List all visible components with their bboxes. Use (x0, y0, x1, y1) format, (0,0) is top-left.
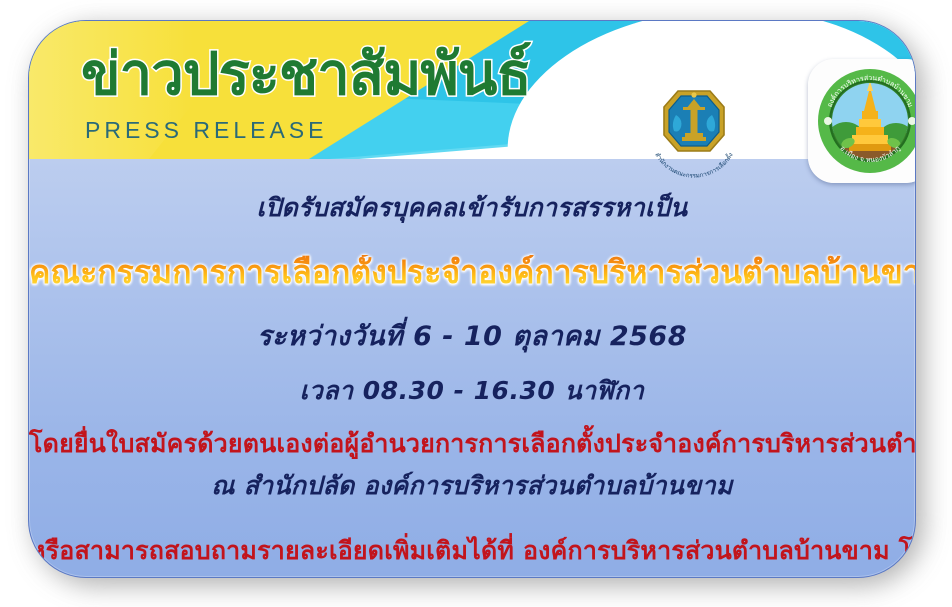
press-release-poster: ข่าวประชาสัมพันธ์ PRESS RELEASE (0, 0, 952, 607)
banner-title-thai: ข่าวประชาสัมพันธ์ (81, 45, 531, 103)
announcement-line-1: เปิดรับสมัครบุคคลเข้ารับการสรรหาเป็น (29, 194, 915, 222)
announcement-contact: หรือสามารถสอบถามรายละเอียดเพิ่มเติมได้ที… (29, 537, 915, 565)
poster-card: ข่าวประชาสัมพันธ์ PRESS RELEASE (28, 20, 916, 578)
header-banner: ข่าวประชาสัมพันธ์ PRESS RELEASE (29, 21, 915, 159)
announcement-headline: คณะกรรมการการเลือกตั้งประจำองค์การบริหาร… (29, 255, 915, 290)
announcement-body: เปิดรับสมัครบุคคลเข้ารับการสรรหาเป็น คณะ… (29, 159, 915, 577)
banner-subtitle-english: PRESS RELEASE (85, 117, 327, 144)
announcement-location: ณ สำนักปลัด องค์การบริหารส่วนตำบลบ้านขาม (29, 472, 915, 500)
announcement-submission-instruction: โดยยื่นใบสมัครด้วยตนเองต่อผู้อำนวยการการ… (29, 430, 915, 458)
announcement-date-range: ระหว่างวันที่ 6 - 10 ตุลาคม 2568 (29, 322, 915, 352)
announcement-time-range: เวลา 08.30 - 16.30 นาฬิกา (29, 377, 915, 405)
